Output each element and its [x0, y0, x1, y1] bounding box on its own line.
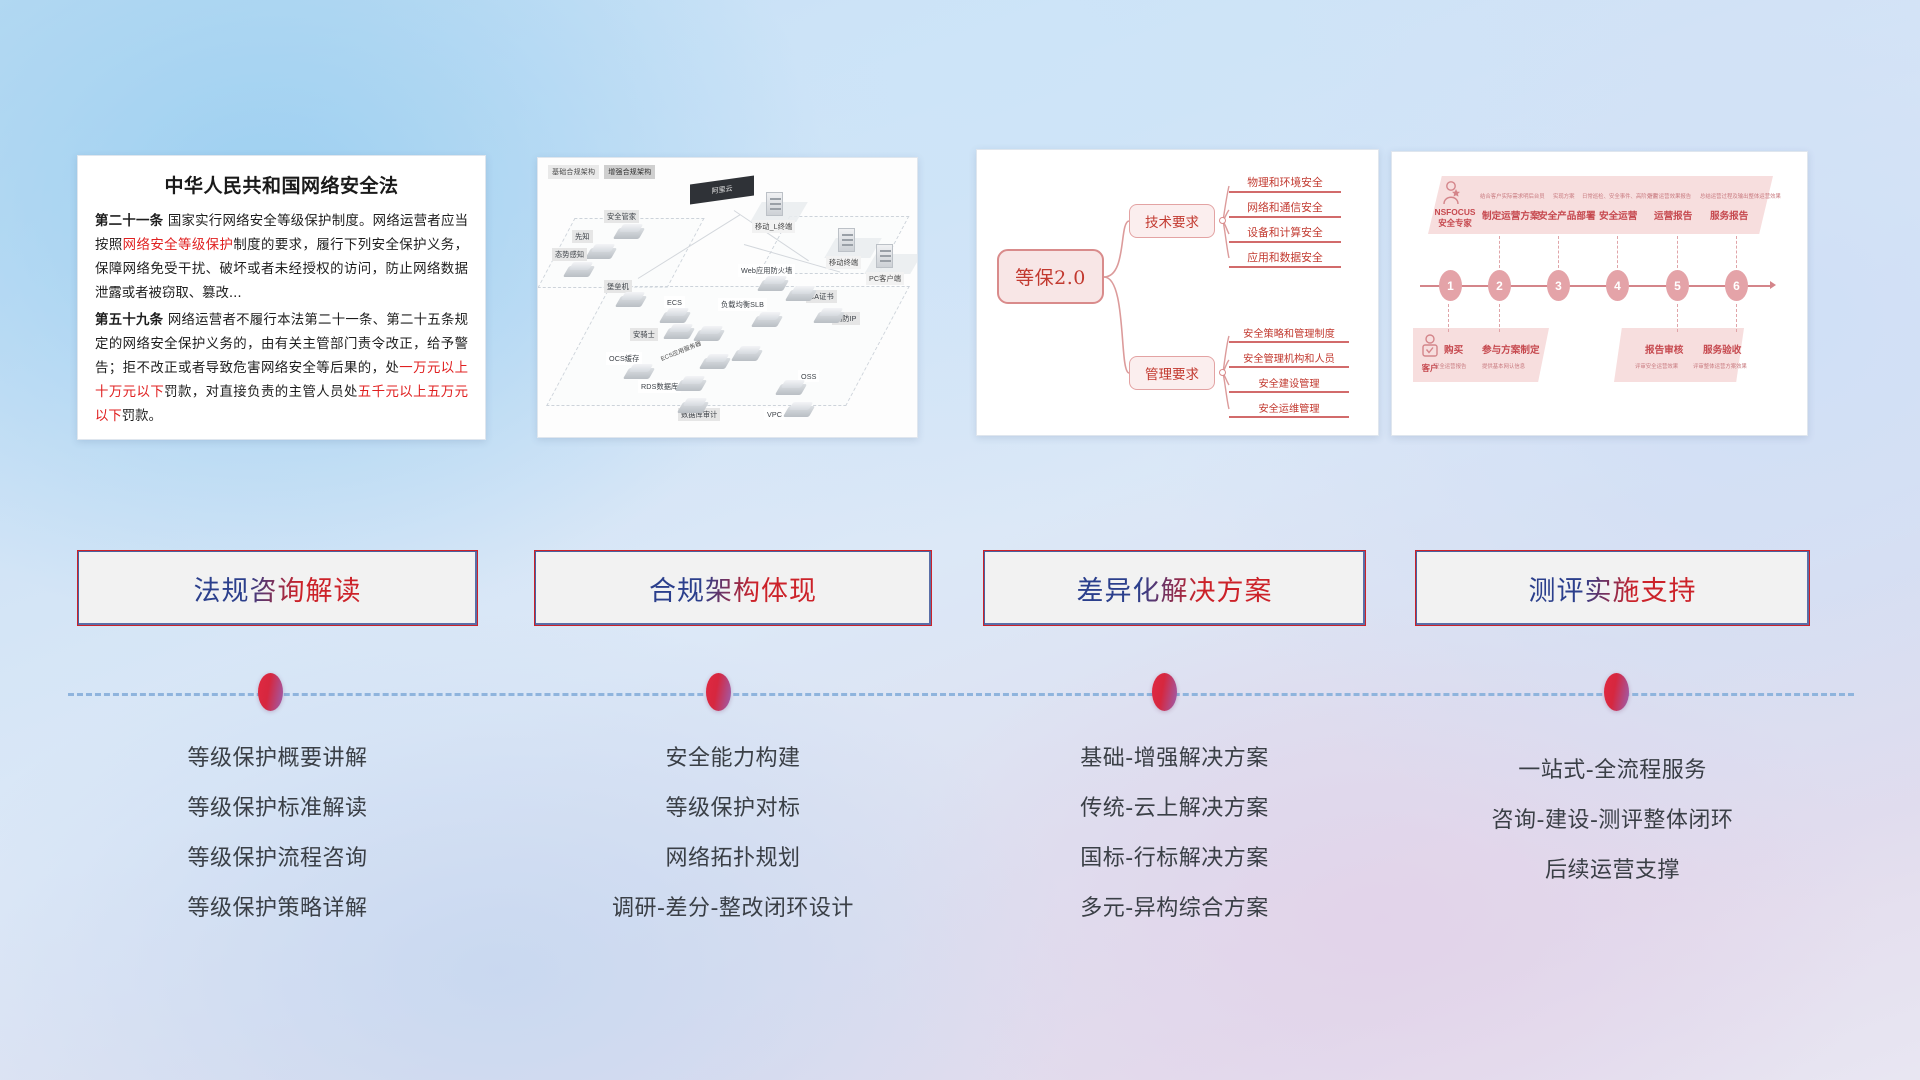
article-21-label: 第二十一条	[95, 214, 163, 229]
arch-node-label: 负载均衡SLB	[718, 298, 767, 311]
arch-icon-server-box	[788, 286, 814, 301]
timeline-step-sub: 针对运营效果报告	[1648, 192, 1691, 200]
section-items-4: 一站式-全流程服务 咨询-建设-测评整体闭环 后续运营支撑	[1415, 760, 1810, 910]
list-item: 安全能力构建	[534, 748, 932, 770]
arch-node-anqishi: 安骑士	[630, 328, 658, 341]
list-item: 一站式-全流程服务	[1415, 760, 1810, 782]
mindmap-branch-management: 管理要求	[1129, 356, 1215, 390]
list-item: 国标-行标解决方案	[983, 848, 1366, 870]
timeline-step-title: 安全运营	[1599, 208, 1637, 222]
arch-icon-server-box	[588, 244, 614, 259]
section-title-4: 测评实施支持	[1529, 569, 1697, 608]
expert-role-line2: 安全专家	[1438, 218, 1472, 228]
section-title-box-1[interactable]: 法规咨询解读	[77, 550, 478, 626]
timeline-axis	[1420, 285, 1772, 287]
arch-icon-server-box	[616, 224, 642, 239]
arch-icon-mobile	[838, 228, 855, 252]
arch-tab-basic[interactable]: 基础合规架构	[548, 165, 599, 179]
arch-node-vpc: VPC	[764, 408, 785, 420]
arch-icon-server-box	[734, 346, 760, 361]
timeline-bottom-title: 参与方案制定	[1482, 342, 1540, 356]
timeline-step-title: 安全产品部署	[1538, 208, 1596, 222]
timeline-step-sub: 结合客户实际需求明后台员	[1480, 192, 1545, 200]
list-item: 多元-异构综合方案	[983, 898, 1366, 920]
timeline-node[interactable]: 4	[1606, 270, 1629, 301]
section-items-3: 基础-增强解决方案 传统-云上解决方案 国标-行标解决方案 多元-异构综合方案	[983, 748, 1366, 948]
card-mindmap: 等保2.0 技术要求 管理要求 物理和环境安全 网络和通信安全 设备和计算安全 …	[976, 149, 1379, 436]
card-service-timeline: NSFOCUS 安全专家 客户 结合客户实际需求明后台员 制定运营方案 实现方案…	[1391, 151, 1808, 436]
service-timeline-diagram: NSFOCUS 安全专家 客户 结合客户实际需求明后台员 制定运营方案 实现方案…	[1392, 152, 1807, 435]
timeline-bottom-sub: 评审整体运营方案效果	[1693, 362, 1747, 370]
mindmap-leaf: 设备和计算安全	[1229, 224, 1341, 243]
timeline-tick	[1499, 304, 1500, 332]
law-document-body: 中华人民共和国网络安全法 第二十一条 国家实行网络安全等级保护制度。网络运营者应…	[78, 156, 485, 429]
section-title-3: 差异化解决方案	[1077, 569, 1273, 608]
list-item: 传统-云上解决方案	[983, 798, 1366, 820]
arch-node-label: RDS数据库	[638, 380, 681, 393]
cloud-provider-badge: 阿里云	[690, 176, 754, 205]
slide-canvas: 中华人民共和国网络安全法 第二十一条 国家实行网络安全等级保护制度。网络运营者应…	[0, 0, 1920, 1080]
arch-icon-server-box	[678, 376, 704, 391]
timeline-arrow-icon	[1770, 281, 1776, 289]
arch-tab-enhanced[interactable]: 增强合规架构	[604, 165, 655, 179]
timeline-node[interactable]: 1	[1439, 270, 1462, 301]
section-title-box-3[interactable]: 差异化解决方案	[983, 550, 1366, 626]
section-title-box-4[interactable]: 测评实施支持	[1415, 550, 1810, 626]
timeline-node[interactable]: 5	[1666, 270, 1689, 301]
timeline-step-sub: 实现方案	[1553, 192, 1575, 200]
arch-icon-server-box	[702, 354, 728, 369]
list-item: 等级保护概要讲解	[77, 748, 478, 770]
list-item: 等级保护对标	[534, 798, 932, 820]
mindmap-leaf: 应用和数据安全	[1229, 249, 1341, 268]
customer-icon	[1420, 334, 1440, 360]
timeline-bottom-sub: 安全运营报告	[1434, 362, 1466, 370]
mindmap-leaf: 网络和通信安全	[1229, 199, 1341, 218]
law-article-21: 第二十一条 国家实行网络安全等级保护制度。网络运营者应当按照网络安全等级保护制度…	[95, 210, 468, 305]
timeline-marker-4[interactable]	[1604, 673, 1629, 711]
arch-icon-server-box	[680, 398, 706, 413]
arch-node-situational-awareness: 态势感知	[552, 248, 587, 261]
security-expert-icon	[1440, 180, 1462, 206]
timeline-marker-2[interactable]	[706, 673, 731, 711]
mindmap-diagram: 等保2.0 技术要求 管理要求 物理和环境安全 网络和通信安全 设备和计算安全 …	[977, 150, 1378, 435]
arch-node-mobile-client: 移动终端	[826, 256, 861, 269]
architecture-diagram: 基础合规架构 增强合规架构 阿里云 安全管家 先知 态势感知	[538, 158, 917, 437]
timeline-tick	[1617, 236, 1618, 268]
arch-node-label: 移动_L终端	[752, 220, 795, 233]
arch-node-label: PC客户端	[866, 272, 904, 285]
arch-icon-server-box	[666, 324, 692, 339]
mindmap-collapse-dot[interactable]	[1219, 217, 1226, 224]
arch-node-ecs: ECS	[664, 296, 685, 308]
mindmap-leaf: 物理和环境安全	[1229, 174, 1341, 193]
arch-node-security-butler: 安全管家	[604, 210, 639, 223]
law-article-59: 第五十九条 网络运营者不履行本法第二十一条、第二十五条规定的网络安全保护义务的，…	[95, 309, 468, 428]
list-item: 等级保护流程咨询	[77, 848, 478, 870]
arch-node-label: 移动终端	[826, 256, 861, 269]
list-item: 网络拓扑规划	[534, 848, 932, 870]
arch-icon-server-box	[778, 380, 804, 395]
article-21-highlight: 网络安全等级保护	[123, 238, 234, 253]
timeline-step-title: 服务报告	[1710, 208, 1748, 222]
arch-node-xianzhi: 先知	[572, 230, 593, 243]
arch-node-label: 安全管家	[604, 210, 639, 223]
timeline-step-sub: 总结运营过程及输出整体运营效果	[1700, 192, 1781, 200]
section-title-box-2[interactable]: 合规架构体现	[534, 550, 932, 626]
arch-node-label: 安骑士	[630, 328, 658, 341]
arch-icon-server-box	[816, 308, 842, 323]
article-59-label: 第五十九条	[95, 313, 163, 328]
mindmap-leaf: 安全策略和管理制度	[1229, 325, 1349, 343]
section-items-2: 安全能力构建 等级保护对标 网络拓扑规划 调研-差分-整改闭环设计	[534, 748, 932, 948]
arch-node-rds-database: RDS数据库	[638, 380, 681, 393]
timeline-tick	[1448, 304, 1449, 332]
arch-icon-server-box	[662, 308, 688, 323]
arch-icon-terminal	[766, 192, 783, 216]
timeline-bottom-sub: 提供基本网认信息	[1482, 362, 1525, 370]
timeline-marker-3[interactable]	[1152, 673, 1177, 711]
list-item: 咨询-建设-测评整体闭环	[1415, 810, 1810, 832]
card-cloud-architecture: 基础合规架构 增强合规架构 阿里云 安全管家 先知 态势感知	[537, 157, 918, 438]
arch-icon-server-box	[566, 262, 592, 277]
arch-icon-server-box	[618, 292, 644, 307]
architecture-tabs: 基础合规架构 增强合规架构	[548, 165, 655, 179]
list-item: 调研-差分-整改闭环设计	[534, 898, 932, 920]
timeline-node[interactable]: 3	[1547, 270, 1570, 301]
article-59-text-2: 罚款，对直接负责的主管人员处	[164, 385, 358, 400]
arch-icon-server-box	[754, 312, 780, 327]
mindmap-root-node: 等保2.0	[997, 249, 1104, 304]
mindmap-collapse-dot[interactable]	[1219, 369, 1226, 376]
section-title-1: 法规咨询解读	[194, 569, 362, 608]
arch-icon-pc	[876, 244, 893, 268]
expert-role-label: NSFOCUS 安全专家	[1432, 207, 1478, 228]
card-law-document: 中华人民共和国网络安全法 第二十一条 国家实行网络安全等级保护制度。网络运营者应…	[77, 155, 486, 440]
timeline-step-sub: 日常巡检、安全事件、高阶处置	[1582, 192, 1657, 200]
mindmap-leaf: 安全建设管理	[1229, 375, 1349, 393]
timeline-node[interactable]: 6	[1725, 270, 1748, 301]
arch-node-label: 先知	[572, 230, 593, 243]
section-items-1: 等级保护概要讲解 等级保护标准解读 等级保护流程咨询 等级保护策略详解	[77, 748, 478, 948]
list-item: 后续运营支撑	[1415, 860, 1810, 882]
arch-node-label: VPC	[764, 408, 785, 420]
timeline-tick	[1499, 236, 1500, 268]
arch-node-mobile-terminal: 移动_L终端	[752, 220, 795, 233]
timeline-band-expert	[1428, 176, 1773, 234]
arch-icon-server-box	[626, 364, 652, 379]
timeline-tick	[1736, 304, 1737, 332]
timeline-tick	[1558, 236, 1559, 268]
arch-node-slb: 负载均衡SLB	[718, 298, 767, 311]
mindmap-leaf: 安全管理机构和人员	[1229, 350, 1349, 368]
mindmap-branch-technical: 技术要求	[1129, 204, 1215, 238]
section-title-2: 合规架构体现	[649, 569, 817, 608]
timeline-bottom-sub: 评审安全运营效果	[1635, 362, 1678, 370]
timeline-tick	[1736, 236, 1737, 268]
timeline-step-title: 制定运营方案	[1482, 208, 1540, 222]
timeline-dashed-line	[68, 693, 1854, 696]
arch-node-label: 态势感知	[552, 248, 587, 261]
list-item: 基础-增强解决方案	[983, 748, 1366, 770]
arch-icon-server-box	[786, 402, 812, 417]
timeline-bottom-title: 服务验收	[1703, 342, 1741, 356]
timeline-marker-1[interactable]	[258, 673, 283, 711]
timeline-bottom-title: 购买	[1444, 342, 1463, 356]
arch-node-pc-client: PC客户端	[866, 272, 904, 285]
expert-role-line1: NSFOCUS	[1435, 207, 1476, 217]
article-59-text-3: 罚款。	[122, 409, 162, 424]
mindmap-leaf: 安全运维管理	[1229, 400, 1349, 418]
list-item: 等级保护策略详解	[77, 898, 478, 920]
timeline-bottom-title: 报告审核	[1645, 342, 1683, 356]
timeline-tick	[1677, 236, 1678, 268]
timeline-step-title: 运营报告	[1654, 208, 1692, 222]
arch-node-label: ECS	[664, 296, 685, 308]
timeline-tick	[1677, 304, 1678, 332]
arch-icon-server-box	[760, 276, 786, 291]
list-item: 等级保护标准解读	[77, 798, 478, 820]
law-title: 中华人民共和国网络安全法	[95, 171, 468, 198]
timeline-node[interactable]: 2	[1488, 270, 1511, 301]
